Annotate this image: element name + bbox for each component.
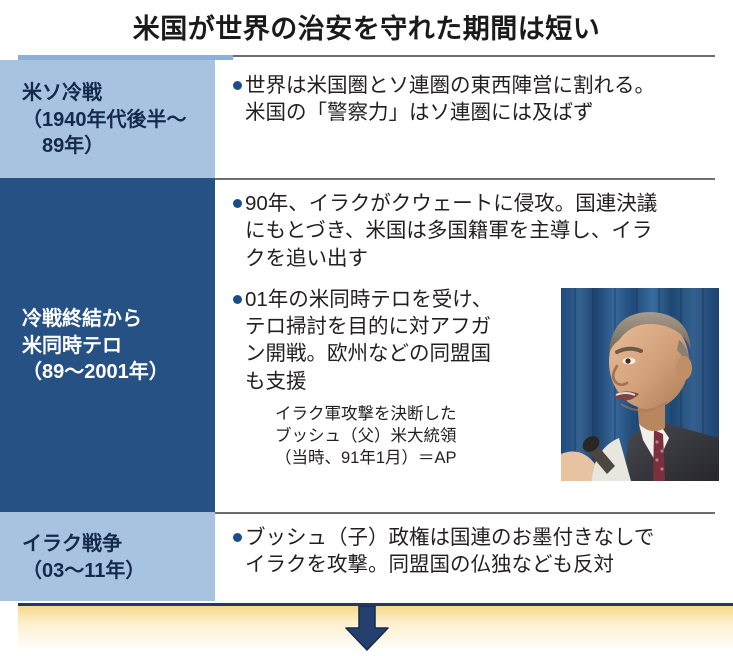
infographic-root: 米国が世界の治安を守れた期間は短い 米ソ冷戦 （1940年代後半〜 89年） 世… — [0, 0, 733, 651]
row-content-iraq-war: ブッシュ（子）政権は国連のお墨付きなしで イラクを攻撃。同盟国の仏独なども反対 — [215, 512, 733, 601]
table-row: イラク戦争 （03〜11年） ブッシュ（子）政権は国連のお墨付きなしで イラクを… — [0, 512, 733, 601]
photo-block — [561, 288, 719, 481]
bullet-dot-icon — [233, 533, 242, 542]
row-label-line: （1940年代後半〜 — [22, 107, 205, 133]
bullet-line: 01年の米同時テロを受け、 — [245, 286, 555, 313]
bullet-line: 世界は米国圏とソ連圏の東西陣営に割れる。 — [245, 72, 719, 99]
bullet-line: テロ掃討を目的に対アフガ — [245, 313, 555, 340]
row-label-line: （03〜11年） — [22, 558, 205, 584]
bullet-line: ブッシュ（子）政権は国連のお墨付きなしで — [245, 524, 719, 551]
bullet-dot-icon — [233, 295, 242, 304]
bullet-item: 01年の米同時テロを受け、 テロ掃討を目的に対アフガ ン開戦。欧州などの同盟国 … — [233, 286, 555, 395]
row-content-post-cold-war: 90年、イラクがクウェートに侵攻。国連決議 にもとづき、米国は多国籍軍を主導し、… — [215, 178, 733, 512]
caption-line: ブッシュ（父）米大統領 — [275, 425, 555, 447]
bullet-line: 米国の「警察力」はソ連圏には及ばず — [245, 99, 719, 126]
bullet-text: 世界は米国圏とソ連圏の東西陣営に割れる。 米国の「警察力」はソ連圏には及ばず — [245, 72, 719, 127]
bullet-and-caption: 01年の米同時テロを受け、 テロ掃討を目的に対アフガ ン開戦。欧州などの同盟国 … — [233, 286, 555, 469]
bullet-line: ン開戦。欧州などの同盟国 — [245, 340, 555, 367]
row-label-iraq-war: イラク戦争 （03〜11年） — [0, 512, 215, 601]
bullet-dot-icon — [233, 199, 242, 208]
bullet-line: イラクを攻撃。同盟国の仏独なども反対 — [245, 551, 719, 578]
bullet-item: 90年、イラクがクウェートに侵攻。国連決議 にもとづき、米国は多国籍軍を主導し、… — [233, 190, 719, 272]
row-label-line: 米ソ冷戦 — [22, 80, 205, 106]
timeline-table: 米ソ冷戦 （1940年代後半〜 89年） 世界は米国圏とソ連圏の東西陣営に割れる… — [0, 60, 733, 601]
row-content-cold-war: 世界は米国圏とソ連圏の東西陣営に割れる。 米国の「警察力」はソ連圏には及ばず — [215, 60, 733, 178]
george-hw-bush-photo — [561, 288, 719, 481]
bullet-with-photo: 01年の米同時テロを受け、 テロ掃討を目的に対アフガ ン開戦。欧州などの同盟国 … — [233, 286, 719, 481]
bullet-line: 90年、イラクがクウェートに侵攻。国連決議 — [245, 190, 719, 217]
page-title-text: 米国が世界の治安を守れた期間は短い — [133, 7, 601, 46]
photo-caption: イラク軍攻撃を決断した ブッシュ（父）米大統領 （当時、91年1月）＝AP — [275, 403, 555, 469]
caption-line: （当時、91年1月）＝AP — [275, 447, 555, 469]
bullet-line: も支援 — [245, 368, 555, 395]
photo-image — [561, 288, 719, 481]
bullet-item: ブッシュ（子）政権は国連のお墨付きなしで イラクを攻撃。同盟国の仏独なども反対 — [233, 524, 719, 579]
bullet-text: ブッシュ（子）政権は国連のお墨付きなしで イラクを攻撃。同盟国の仏独なども反対 — [245, 524, 719, 579]
row-label-line: イラク戦争 — [22, 531, 205, 557]
bullet-dot-icon — [233, 81, 242, 90]
caption-line: イラク軍攻撃を決断した — [275, 403, 555, 425]
row-label-cold-war: 米ソ冷戦 （1940年代後半〜 89年） — [0, 60, 215, 178]
row-label-post-cold-war: 冷戦終結から 米同時テロ （89〜2001年） — [0, 178, 215, 512]
bullet-line: にもとづき、米国は多国籍軍を主導し、イラ — [245, 217, 719, 244]
bullet-line: クを追い出す — [245, 245, 719, 272]
row-label-line: （89〜2001年） — [22, 359, 205, 385]
table-row: 冷戦終結から 米同時テロ （89〜2001年） 90年、イラクがクウェートに侵攻… — [0, 178, 733, 512]
bullet-text: 90年、イラクがクウェートに侵攻。国連決議 にもとづき、米国は多国籍軍を主導し、… — [245, 190, 719, 272]
row-label-line: 米同時テロ — [22, 333, 205, 359]
row-label-line: 冷戦終結から — [22, 306, 205, 332]
table-row: 米ソ冷戦 （1940年代後半〜 89年） 世界は米国圏とソ連圏の東西陣営に割れる… — [0, 60, 733, 178]
page-title: 米国が世界の治安を守れた期間は短い — [0, 0, 733, 52]
bullet-text: 01年の米同時テロを受け、 テロ掃討を目的に対アフガ ン開戦。欧州などの同盟国 … — [245, 286, 555, 395]
bullet-item: 世界は米国圏とソ連圏の東西陣営に割れる。 米国の「警察力」はソ連圏には及ばず — [233, 72, 719, 127]
flow-arrow-down-icon — [344, 606, 390, 651]
row-label-line: 89年） — [22, 133, 205, 159]
